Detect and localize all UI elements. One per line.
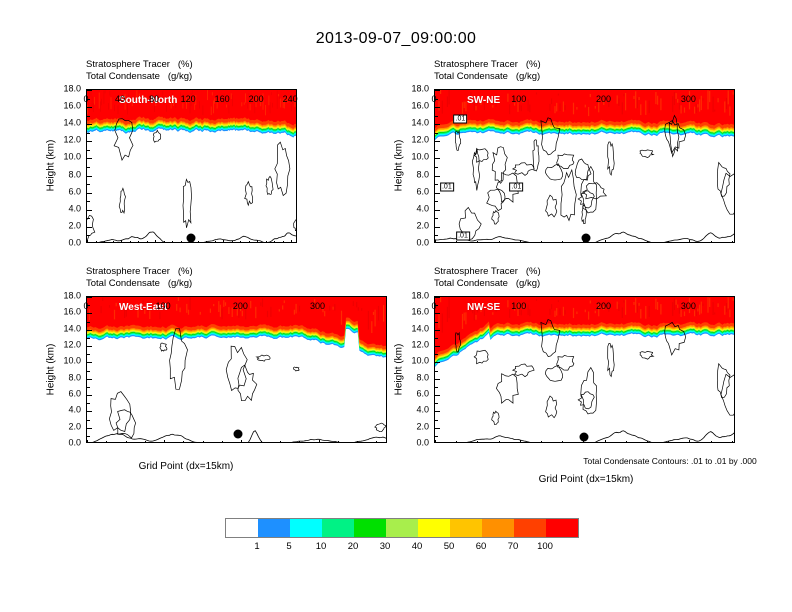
colorbar-cell-0	[226, 519, 258, 537]
x-minor-tick	[203, 441, 204, 443]
variable-name-1: Total Condensate (g/kg)	[434, 278, 754, 290]
y-minor-tick	[435, 201, 438, 202]
colorbar-label-6: 50	[444, 542, 455, 552]
variable-name-0: Stratosphere Tracer (%)	[434, 59, 754, 71]
y-tick-mark	[435, 176, 440, 177]
y-tick-label-5: 10.0	[63, 153, 81, 162]
y-tick-label-2: 4.0	[68, 406, 81, 415]
y-tick-label-8: 16.0	[411, 102, 429, 111]
colorbar-cell-6	[418, 519, 450, 537]
x-minor-tick	[291, 241, 292, 243]
y-tick-mark	[87, 346, 92, 347]
y-minor-tick	[435, 322, 438, 323]
x-minor-tick	[689, 441, 690, 443]
x-minor-tick	[198, 241, 199, 243]
y-tick-mark	[87, 210, 92, 211]
x-minor-tick	[87, 241, 88, 243]
x-minor-tick	[583, 441, 584, 443]
plot-area-west-east[interactable]: West-East	[86, 296, 387, 443]
location-marker	[186, 233, 195, 242]
y-tick-mark	[435, 362, 440, 363]
x-minor-tick	[338, 441, 339, 443]
y-tick-label-6: 12.0	[411, 136, 429, 145]
y-tick-mark	[87, 158, 92, 159]
y-minor-tick	[435, 218, 438, 219]
y-minor-tick	[87, 420, 90, 421]
y-minor-tick	[87, 167, 90, 168]
x-tick-label-1: 40	[115, 95, 125, 104]
x-tick-label-1: 100	[511, 302, 526, 311]
x-minor-tick	[732, 241, 733, 243]
variable-name-1: Total Condensate (g/kg)	[86, 278, 406, 290]
y-tick-label-1: 2.0	[416, 221, 429, 230]
y-tick-label-2: 4.0	[416, 406, 429, 415]
y-tick-mark	[87, 411, 92, 412]
y-tick-label-3: 6.0	[68, 187, 81, 196]
variable-name-0: Stratosphere Tracer (%)	[86, 59, 406, 71]
y-tick-label-4: 8.0	[68, 373, 81, 382]
colorbar-label-2: 10	[316, 542, 327, 552]
x-minor-tick	[668, 241, 669, 243]
y-tick-mark	[87, 362, 92, 363]
y-tick-label-3: 6.0	[416, 390, 429, 399]
y-tick-label-4: 8.0	[416, 170, 429, 179]
x-minor-tick	[257, 241, 258, 243]
x-tick-label-3: 300	[310, 302, 325, 311]
x-minor-tick	[183, 441, 184, 443]
y-tick-mark	[87, 176, 92, 177]
y-minor-tick	[87, 322, 90, 323]
y-tick-label-4: 8.0	[416, 373, 429, 382]
colorbar-cell-5	[386, 519, 418, 537]
x-tick-label-1: 100	[156, 302, 171, 311]
y-tick-mark	[87, 193, 92, 194]
y-tick-label-2: 4.0	[416, 204, 429, 213]
y-tick-mark	[435, 411, 440, 412]
x-tick-label-6: 240	[283, 95, 298, 104]
x-minor-tick	[605, 441, 606, 443]
y-tick-mark	[87, 107, 92, 108]
colorbar-cell-7	[450, 519, 482, 537]
y-tick-mark	[435, 227, 440, 228]
y-tick-label-8: 16.0	[63, 102, 81, 111]
x-minor-tick	[520, 241, 521, 243]
x-minor-tick	[121, 241, 122, 243]
y-minor-tick	[87, 354, 90, 355]
x-tick-label-0: 0	[83, 302, 88, 311]
y-tick-mark	[87, 90, 92, 91]
location-marker	[580, 432, 589, 441]
panel-header-south-north: Stratosphere Tracer (%)Total Condensate …	[86, 59, 406, 82]
y-minor-tick	[435, 420, 438, 421]
x-minor-tick	[357, 441, 358, 443]
y-tick-mark	[435, 210, 440, 211]
colorbar-label-3: 20	[348, 542, 359, 552]
y-minor-tick	[435, 354, 438, 355]
colorbar-label-8: 70	[508, 542, 519, 552]
colorbar-label-9: 100	[537, 542, 553, 552]
x-minor-tick	[189, 241, 190, 243]
y-tick-label-9: 18.0	[411, 85, 429, 94]
y-tick-mark	[435, 90, 440, 91]
y-tick-mark	[435, 158, 440, 159]
x-tick-label-3: 300	[681, 302, 696, 311]
x-minor-tick	[583, 241, 584, 243]
contour-label-1: .01	[440, 182, 454, 191]
x-tick-label-3: 120	[181, 95, 196, 104]
x-minor-tick	[319, 441, 320, 443]
y-tick-mark	[87, 428, 92, 429]
plot-area-nw-se[interactable]: NW-SE	[434, 296, 735, 443]
x-tick-label-2: 200	[596, 95, 611, 104]
colorbar-label-7: 60	[476, 542, 487, 552]
y-minor-tick	[435, 167, 438, 168]
y-tick-label-5: 10.0	[411, 357, 429, 366]
y-tick-label-5: 10.0	[63, 357, 81, 366]
plot-area-south-north[interactable]: South-North	[86, 89, 297, 243]
y-minor-tick	[435, 387, 438, 388]
x-tick-label-2: 200	[233, 302, 248, 311]
contour-label-0: .01	[454, 115, 468, 124]
y-minor-tick	[87, 133, 90, 134]
y-tick-label-2: 4.0	[68, 204, 81, 213]
x-minor-tick	[689, 241, 690, 243]
y-minor-tick	[435, 184, 438, 185]
x-minor-tick	[626, 241, 627, 243]
colorbar-label-0: 1	[254, 542, 259, 552]
panel-header-west-east: Stratosphere Tracer (%)Total Condensate …	[86, 266, 406, 289]
y-tick-label-6: 12.0	[411, 341, 429, 350]
x-minor-tick	[376, 441, 377, 443]
x-minor-tick	[520, 441, 521, 443]
y-minor-tick	[435, 403, 438, 404]
x-minor-tick	[711, 241, 712, 243]
x-minor-tick	[181, 241, 182, 243]
x-tick-label-0: 0	[431, 302, 436, 311]
y-tick-label-5: 10.0	[411, 153, 429, 162]
x-minor-tick	[172, 241, 173, 243]
x-minor-tick	[562, 441, 563, 443]
variable-name-1: Total Condensate (g/kg)	[434, 71, 754, 83]
x-tick-label-0: 0	[83, 95, 88, 104]
colorbar-cell-4	[354, 519, 386, 537]
colorbar-cell-2	[290, 519, 322, 537]
colorbar-label-1: 5	[286, 542, 291, 552]
y-tick-label-1: 2.0	[416, 422, 429, 431]
x-minor-tick	[130, 241, 131, 243]
y-tick-mark	[435, 107, 440, 108]
y-minor-tick	[435, 371, 438, 372]
y-minor-tick	[87, 436, 90, 437]
y-axis-label-west-east: Height (km)	[46, 334, 57, 404]
x-minor-tick	[626, 441, 627, 443]
x-minor-tick	[299, 441, 300, 443]
colorbar-scale	[225, 518, 579, 538]
y-tick-label-9: 18.0	[411, 292, 429, 301]
x-minor-tick	[106, 441, 107, 443]
y-tick-label-7: 14.0	[411, 119, 429, 128]
y-minor-tick	[87, 371, 90, 372]
colorbar-cell-10	[546, 519, 578, 537]
x-minor-tick	[232, 241, 233, 243]
variable-name-1: Total Condensate (g/kg)	[86, 71, 406, 83]
y-minor-tick	[435, 116, 438, 117]
x-minor-tick	[605, 241, 606, 243]
x-minor-tick	[541, 441, 542, 443]
y-axis-label-nw-se: Height (km)	[394, 334, 405, 404]
x-minor-tick	[456, 241, 457, 243]
x-minor-tick	[222, 441, 223, 443]
y-tick-mark	[87, 124, 92, 125]
y-tick-label-7: 14.0	[63, 119, 81, 128]
x-minor-tick	[435, 441, 436, 443]
x-minor-tick	[164, 241, 165, 243]
y-tick-label-0: 0.0	[68, 239, 81, 248]
x-tick-label-2: 200	[596, 302, 611, 311]
y-tick-mark	[87, 141, 92, 142]
y-tick-label-0: 0.0	[68, 439, 81, 448]
figure-title: 2013-09-07_09:00:00	[0, 30, 792, 48]
x-tick-label-1: 100	[511, 95, 526, 104]
y-tick-mark	[87, 379, 92, 380]
y-minor-tick	[87, 387, 90, 388]
x-minor-tick	[283, 241, 284, 243]
y-tick-mark	[435, 330, 440, 331]
x-axis-label-left: Grid Point (dx=15km)	[139, 461, 234, 472]
y-tick-label-9: 18.0	[63, 85, 81, 94]
y-tick-label-0: 0.0	[416, 439, 429, 448]
variable-name-0: Stratosphere Tracer (%)	[434, 266, 754, 278]
x-minor-tick	[562, 241, 563, 243]
y-axis-label-south-north: Height (km)	[46, 131, 57, 201]
contour-label-2: .01	[510, 182, 524, 191]
x-minor-tick	[240, 241, 241, 243]
x-minor-tick	[87, 441, 88, 443]
y-minor-tick	[435, 133, 438, 134]
panel-header-sw-ne: Stratosphere Tracer (%)Total Condensate …	[434, 59, 754, 82]
y-tick-label-6: 12.0	[63, 341, 81, 350]
x-minor-tick	[215, 241, 216, 243]
y-tick-label-7: 14.0	[63, 324, 81, 333]
y-tick-label-1: 2.0	[68, 221, 81, 230]
y-tick-mark	[87, 330, 92, 331]
x-minor-tick	[206, 241, 207, 243]
y-tick-label-3: 6.0	[68, 390, 81, 399]
x-minor-tick	[147, 241, 148, 243]
panel-header-nw-se: Stratosphere Tracer (%)Total Condensate …	[434, 266, 754, 289]
x-minor-tick	[280, 441, 281, 443]
x-minor-tick	[138, 241, 139, 243]
x-minor-tick	[477, 241, 478, 243]
x-minor-tick	[266, 241, 267, 243]
y-minor-tick	[435, 235, 438, 236]
colorbar-cell-3	[322, 519, 354, 537]
x-minor-tick	[155, 241, 156, 243]
y-minor-tick	[87, 184, 90, 185]
x-minor-tick	[647, 441, 648, 443]
x-minor-tick	[223, 241, 224, 243]
contour-note: Total Condensate Contours: .01 to .01 by…	[583, 456, 756, 466]
y-tick-mark	[435, 193, 440, 194]
y-minor-tick	[87, 218, 90, 219]
contour-label-3: .01	[456, 232, 470, 241]
y-tick-mark	[87, 395, 92, 396]
colorbar-cell-8	[482, 519, 514, 537]
location-marker	[234, 430, 243, 439]
x-minor-tick	[435, 241, 436, 243]
colorbar-label-4: 30	[380, 542, 391, 552]
x-minor-tick	[647, 241, 648, 243]
y-minor-tick	[435, 436, 438, 437]
x-minor-tick	[274, 241, 275, 243]
y-tick-label-7: 14.0	[411, 324, 429, 333]
y-tick-mark	[435, 313, 440, 314]
y-tick-label-6: 12.0	[63, 136, 81, 145]
y-tick-mark	[435, 428, 440, 429]
y-tick-label-8: 16.0	[411, 308, 429, 317]
plot-area-sw-ne[interactable]: SW-NE.01.01.01.01	[434, 89, 735, 243]
x-axis-label-right: Grid Point (dx=15km)	[539, 474, 634, 485]
y-tick-label-8: 16.0	[63, 308, 81, 317]
y-minor-tick	[87, 116, 90, 117]
y-minor-tick	[87, 403, 90, 404]
x-minor-tick	[668, 441, 669, 443]
x-minor-tick	[113, 241, 114, 243]
y-tick-label-3: 6.0	[416, 187, 429, 196]
x-minor-tick	[261, 441, 262, 443]
y-tick-label-9: 18.0	[63, 292, 81, 301]
y-tick-label-4: 8.0	[68, 170, 81, 179]
y-tick-mark	[87, 297, 92, 298]
y-minor-tick	[435, 338, 438, 339]
x-minor-tick	[241, 441, 242, 443]
y-tick-mark	[435, 297, 440, 298]
x-tick-label-5: 200	[249, 95, 264, 104]
x-tick-label-3: 300	[681, 95, 696, 104]
x-minor-tick	[145, 441, 146, 443]
y-minor-tick	[435, 150, 438, 151]
y-tick-mark	[87, 227, 92, 228]
x-minor-tick	[456, 441, 457, 443]
y-tick-mark	[435, 141, 440, 142]
x-minor-tick	[499, 241, 500, 243]
y-minor-tick	[87, 150, 90, 151]
x-minor-tick	[711, 441, 712, 443]
y-minor-tick	[87, 201, 90, 202]
x-minor-tick	[499, 441, 500, 443]
y-tick-label-0: 0.0	[416, 239, 429, 248]
y-minor-tick	[87, 338, 90, 339]
x-minor-tick	[126, 441, 127, 443]
colorbar-label-5: 40	[412, 542, 423, 552]
y-tick-mark	[87, 313, 92, 314]
x-tick-label-4: 160	[215, 95, 230, 104]
y-tick-mark	[435, 346, 440, 347]
y-tick-mark	[435, 395, 440, 396]
x-minor-tick	[541, 241, 542, 243]
x-minor-tick	[96, 241, 97, 243]
x-minor-tick	[249, 241, 250, 243]
variable-name-0: Stratosphere Tracer (%)	[86, 266, 406, 278]
x-minor-tick	[104, 241, 105, 243]
y-axis-label-sw-ne: Height (km)	[394, 131, 405, 201]
y-tick-mark	[435, 124, 440, 125]
x-minor-tick	[164, 441, 165, 443]
colorbar-cell-1	[258, 519, 290, 537]
x-tick-label-2: 80	[149, 95, 159, 104]
figure-canvas: 2013-09-07_09:00:00 Stratosphere Tracer …	[0, 0, 792, 612]
x-tick-label-0: 0	[431, 95, 436, 104]
x-minor-tick	[477, 441, 478, 443]
x-minor-tick	[732, 441, 733, 443]
y-minor-tick	[87, 235, 90, 236]
y-tick-label-1: 2.0	[68, 422, 81, 431]
colorbar-cell-9	[514, 519, 546, 537]
y-tick-mark	[435, 379, 440, 380]
